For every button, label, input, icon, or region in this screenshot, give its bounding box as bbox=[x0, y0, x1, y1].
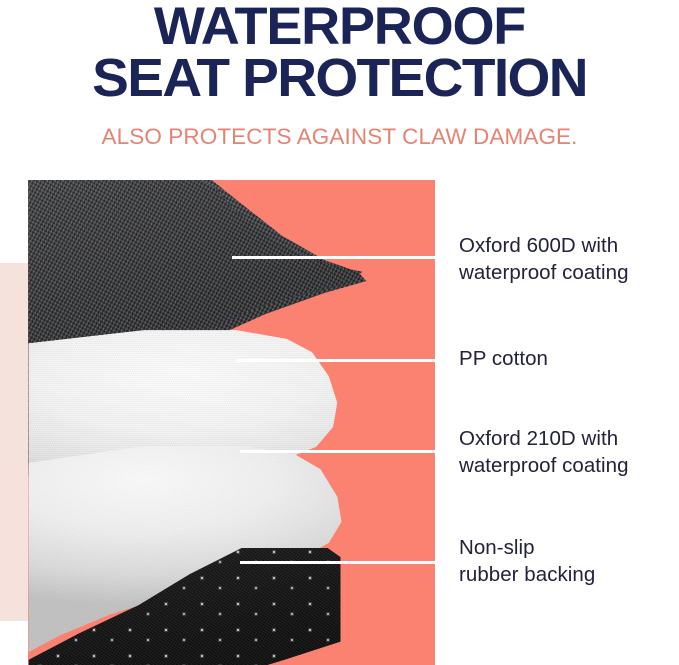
callout-oxford-600d-line-2: waterproof coating bbox=[459, 261, 629, 284]
callout-oxford-210d-line-1: Oxford 210D with bbox=[459, 427, 618, 450]
callout-oxford-600d: Oxford 600D with waterproof coating bbox=[459, 232, 629, 286]
callout-pp-cotton: PP cotton bbox=[459, 345, 548, 372]
leader-line-pp-cotton bbox=[236, 359, 448, 362]
callout-oxford-210d-line-2: waterproof coating bbox=[459, 454, 629, 477]
callout-pp-cotton-line-1: PP cotton bbox=[459, 347, 548, 370]
product-layer-photo bbox=[28, 180, 435, 665]
pink-accent-block bbox=[0, 263, 28, 621]
leader-line-oxford-600d bbox=[232, 256, 448, 259]
leader-line-rubber-backing bbox=[240, 561, 448, 564]
subheadline: ALSO PROTECTS AGAINST CLAW DAMAGE. bbox=[0, 124, 679, 150]
headline-line-1: WATERPROOF bbox=[0, 2, 679, 53]
callout-oxford-600d-line-1: Oxford 600D with bbox=[459, 234, 618, 257]
leader-line-oxford-210d bbox=[240, 450, 448, 453]
infographic-page: WATERPROOF SEAT PROTECTION ALSO PROTECTS… bbox=[0, 0, 679, 665]
callout-oxford-210d: Oxford 210D with waterproof coating bbox=[459, 425, 629, 479]
callout-rubber-backing-line-2: rubber backing bbox=[459, 563, 595, 586]
callout-rubber-backing: Non-slip rubber backing bbox=[459, 534, 595, 588]
callout-rubber-backing-line-1: Non-slip bbox=[459, 536, 535, 559]
headline-line-2: SEAT PROTECTION bbox=[0, 53, 679, 105]
page-title: WATERPROOF SEAT PROTECTION bbox=[0, 2, 679, 105]
